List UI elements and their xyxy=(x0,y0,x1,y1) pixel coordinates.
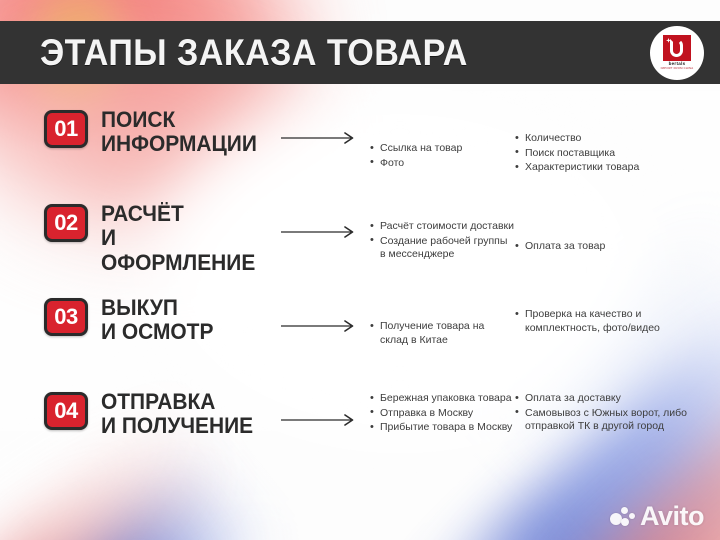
list-item: Отправка в Москву xyxy=(370,407,515,421)
bullet-list: Получение товара на склад в Китае xyxy=(370,320,515,347)
step-number: 01 xyxy=(54,118,77,140)
arrow-right-icon xyxy=(270,132,370,144)
step-heading: 01 ПОИСК ИНФОРМАЦИИ xyxy=(0,110,270,157)
step-number-badge: 01 xyxy=(44,110,88,148)
step-heading: 03 ВЫКУП И ОСМОТР xyxy=(0,298,270,345)
arrow-right-icon xyxy=(270,320,370,332)
step-number-badge: 04 xyxy=(44,392,88,430)
step-row: 03 ВЫКУП И ОСМОТР Получение товара на ск… xyxy=(0,298,720,392)
step-title: ОТПРАВКА И ПОЛУЧЕНИЕ xyxy=(101,390,253,439)
step-details-col-b: Проверка на качество и комплектность, фо… xyxy=(515,298,715,336)
list-item: Характеристики товара xyxy=(515,161,715,175)
logo-icon xyxy=(663,35,691,61)
bullet-list: Ссылка на товар Фото xyxy=(370,142,515,170)
list-item: Самовывоз с Южных ворот, либо отправкой … xyxy=(515,407,715,434)
list-item: Количество xyxy=(515,132,715,146)
bullet-list: Проверка на качество и комплектность, фо… xyxy=(515,308,715,335)
step-number-badge: 02 xyxy=(44,204,88,242)
avito-dots-icon xyxy=(610,505,636,529)
step-title: РАСЧЁТ И ОФОРМЛЕНИЕ xyxy=(101,202,258,275)
list-item: Фото xyxy=(370,157,515,171)
step-row: 01 ПОИСК ИНФОРМАЦИИ Ссылка на товар Фото… xyxy=(0,110,720,204)
bullet-list: Количество Поиск поставщика Характеристи… xyxy=(515,132,715,175)
list-item: Прибытие товара в Москву xyxy=(370,421,515,435)
step-details-col-a: Расчёт стоимости доставки Создание рабоч… xyxy=(370,204,515,263)
step-number: 03 xyxy=(54,306,77,328)
step-heading: 02 РАСЧЁТ И ОФОРМЛЕНИЕ xyxy=(0,204,270,275)
list-item: Поиск поставщика xyxy=(515,147,715,161)
step-details-col-a: Бережная упаковка товара Отправка в Моск… xyxy=(370,392,515,436)
brand-logo: bertals IMPORT FROM CHINA xyxy=(650,26,704,80)
step-title: ПОИСК ИНФОРМАЦИИ xyxy=(101,108,257,157)
step-title: ВЫКУП И ОСМОТР xyxy=(101,296,213,345)
list-item: Расчёт стоимости доставки xyxy=(370,220,515,234)
header-bar: ЭТАПЫ ЗАКАЗА ТОВАРА bertals IMPORT FROM … xyxy=(0,21,720,84)
arrow-right-icon xyxy=(270,414,370,426)
list-item: Создание рабочей группы в мессенджере xyxy=(370,235,515,262)
list-item: Бережная упаковка товара xyxy=(370,392,515,406)
step-number: 02 xyxy=(54,212,77,234)
step-row: 04 ОТПРАВКА И ПОЛУЧЕНИЕ Бережная упаковк… xyxy=(0,392,720,496)
step-details-col-a: Получение товара на склад в Китае xyxy=(370,298,515,348)
step-details-col-b: Оплата за доставку Самовывоз с Южных вор… xyxy=(515,392,715,435)
step-details-col-b: Оплата за товар xyxy=(515,204,715,255)
avito-wordmark: Avito xyxy=(640,503,704,530)
list-item: Оплата за доставку xyxy=(515,392,715,406)
bullet-list: Оплата за товар xyxy=(515,240,715,254)
page-title: ЭТАПЫ ЗАКАЗА ТОВАРА xyxy=(40,34,468,71)
bullet-list: Бережная упаковка товара Отправка в Моск… xyxy=(370,392,515,435)
infographic-poster: ЭТАПЫ ЗАКАЗА ТОВАРА bertals IMPORT FROM … xyxy=(0,0,720,540)
step-details-col-a: Ссылка на товар Фото xyxy=(370,110,515,171)
steps-list: 01 ПОИСК ИНФОРМАЦИИ Ссылка на товар Фото… xyxy=(0,110,720,496)
arrow-right-icon xyxy=(270,226,370,238)
list-item: Оплата за товар xyxy=(515,240,715,254)
step-number-badge: 03 xyxy=(44,298,88,336)
bullet-list: Расчёт стоимости доставки Создание рабоч… xyxy=(370,220,515,262)
avito-watermark: Avito xyxy=(610,503,704,530)
list-item: Получение товара на склад в Китае xyxy=(370,320,515,347)
list-item: Проверка на качество и комплектность, фо… xyxy=(515,308,715,335)
logo-tagline: IMPORT FROM CHINA xyxy=(661,67,694,70)
list-item: Ссылка на товар xyxy=(370,142,515,156)
step-heading: 04 ОТПРАВКА И ПОЛУЧЕНИЕ xyxy=(0,392,270,439)
bullet-list: Оплата за доставку Самовывоз с Южных вор… xyxy=(515,392,715,434)
step-row: 02 РАСЧЁТ И ОФОРМЛЕНИЕ Расчёт стоимости … xyxy=(0,204,720,298)
step-number: 04 xyxy=(54,400,77,422)
step-details-col-b: Количество Поиск поставщика Характеристи… xyxy=(515,110,715,176)
